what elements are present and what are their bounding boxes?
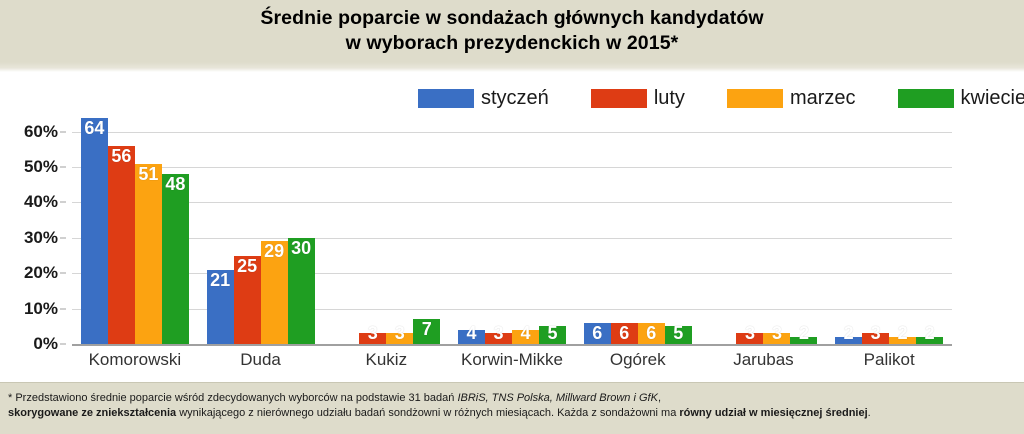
chart-legend: styczeńlutymarzeckwiecień [418,87,1024,110]
y-axis-tick-label: 30% [24,228,58,248]
x-axis-label-Korwin-Mikke: Korwin-Mikke [449,350,575,370]
bar-Palikot-styczeń[interactable]: 2 [835,337,862,344]
y-axis-tick-mark [60,131,66,132]
bar-slot: 29 [261,114,288,344]
bar-slot: 56 [108,114,135,344]
bar-slot: 64 [81,114,108,344]
footnote-bold-corrected: skorygowane ze zniekształcenia [8,407,176,419]
bar-group-Jarubas: 332 [701,114,827,344]
bar-Palikot-luty[interactable]: 3 [862,333,889,344]
bar-Komorowski-marzec[interactable]: 51 [135,164,162,344]
y-axis-tick-label: 20% [24,263,58,283]
legend-swatch-icon [898,89,954,108]
bar-Komorowski-kwiecień[interactable]: 48 [162,174,189,344]
footnote-line-2-end: . [868,407,871,419]
x-axis-label-Ogórek: Ogórek [575,350,701,370]
bar-value-label: 2 [898,324,908,343]
bar-Korwin-Mikke-kwiecień[interactable]: 5 [539,326,566,344]
bar-slot: 5 [539,114,566,344]
bar-group-Palikot: 2322 [826,114,952,344]
bar-Ogórek-styczeń[interactable]: 6 [584,323,611,344]
footnote-text: * Przedstawiono średnie poparcie wśród z… [8,391,1016,421]
bar-Kukiz-kwiecień[interactable]: 7 [413,319,440,344]
bar-Kukiz-luty[interactable]: 3 [359,333,386,344]
y-axis-tick-mark [60,344,66,345]
bar-value-label: 48 [165,175,185,194]
bar-slot: 5 [665,114,692,344]
bar-Kukiz-marzec[interactable]: 3 [386,333,413,344]
bar-slot: 2 [916,114,943,344]
bar-value-label: 4 [467,324,477,343]
bar-Ogórek-kwiecień[interactable]: 5 [665,326,692,344]
bar-Korwin-Mikke-luty[interactable]: 3 [485,333,512,344]
bar-slot: 2 [835,114,862,344]
bar-group-Korwin-Mikke: 4345 [449,114,575,344]
bar-value-label: 25 [237,257,257,276]
footnote-band: * Przedstawiono średnie poparcie wśród z… [0,382,1024,434]
bar-Ogórek-marzec[interactable]: 6 [638,323,665,344]
bar-slot: 3 [359,114,386,344]
y-axis-tick-label: 50% [24,157,58,177]
bar-Ogórek-luty[interactable]: 6 [611,323,638,344]
bar-slot: 6 [611,114,638,344]
bar-value-label: 6 [619,324,629,343]
bar-slot [709,114,736,344]
bar-group-Ogórek: 6665 [575,114,701,344]
bar-slot: 4 [512,114,539,344]
x-axis-label-Komorowski: Komorowski [72,350,198,370]
footnote-pollsters: IBRiS, TNS Polska, Millward Brown i GfK [457,392,658,404]
bar-slot: 48 [162,114,189,344]
bar-value-label: 56 [111,147,131,166]
bar-value-label: 2 [925,324,935,343]
bar-slot: 3 [763,114,790,344]
legend-swatch-icon [727,89,783,108]
y-axis-tick-label: 0% [33,334,58,354]
bar-slot: 30 [288,114,315,344]
bar-slot: 3 [862,114,889,344]
bar-value-label: 3 [368,324,378,343]
footnote-line-2: skorygowane ze zniekształcenia wynikając… [8,406,1016,421]
bar-value-label: 3 [395,324,405,343]
bar-slot: 3 [485,114,512,344]
footnote-line-2-text: wynikającego z nierównego udziału badań … [176,407,679,419]
bar-groups: 6456514821252930337434566653322322 [72,114,952,344]
bar-group-Duda: 21252930 [198,114,324,344]
y-axis-tick-label: 10% [24,299,58,319]
bar-slot: 2 [889,114,916,344]
bar-value-label: 30 [291,239,311,258]
legend-item-styczeń[interactable]: styczeń [418,87,549,110]
bar-slot: 2 [790,114,817,344]
bar-slot [332,114,359,344]
bar-Komorowski-styczeń[interactable]: 64 [81,118,108,344]
bar-value-label: 2 [799,324,809,343]
footnote-line-1-end: , [658,392,661,404]
bar-value-label: 51 [138,165,158,184]
x-axis-label-Kukiz: Kukiz [323,350,449,370]
legend-label: kwiecień [961,87,1024,110]
bar-slot: 6 [584,114,611,344]
bar-slot: 7 [413,114,440,344]
legend-item-luty[interactable]: luty [591,87,685,110]
bar-Komorowski-luty[interactable]: 56 [108,146,135,344]
bar-Korwin-Mikke-styczeń[interactable]: 4 [458,330,485,344]
bar-slot: 3 [386,114,413,344]
bar-value-label: 6 [646,324,656,343]
y-axis-tick-label: 40% [24,192,58,212]
bar-value-label: 7 [422,320,432,339]
footnote-bold-equal-share: równy udział w miesięcznej średniej [679,407,867,419]
legend-swatch-icon [418,89,474,108]
legend-item-marzec[interactable]: marzec [727,87,856,110]
y-axis-tick-mark [60,273,66,274]
legend-label: marzec [790,87,856,110]
y-axis-tick-mark [60,202,66,203]
bar-value-label: 6 [592,324,602,343]
bar-Korwin-Mikke-marzec[interactable]: 4 [512,330,539,344]
legend-label: luty [654,87,685,110]
bar-value-label: 4 [521,324,531,343]
y-axis-tick-mark [60,308,66,309]
bar-Jarubas-kwiecień[interactable]: 2 [790,337,817,344]
bar-value-label: 5 [548,324,558,343]
bar-value-label: 3 [871,324,881,343]
chart-title-line-2: w wyborach prezydenckich w 2015* [0,31,1024,56]
bar-value-label: 2 [844,324,854,343]
bar-slot: 4 [458,114,485,344]
footnote-line-1-text: * Przedstawiono średnie poparcie wśród z… [8,392,457,404]
legend-item-kwiecień[interactable]: kwiecień [898,87,1024,110]
gridline-0% [72,344,952,346]
bar-Jarubas-marzec[interactable]: 3 [763,333,790,344]
bar-Jarubas-luty[interactable]: 3 [736,333,763,344]
bar-Palikot-kwiecień[interactable]: 2 [916,337,943,344]
bar-slot: 21 [207,114,234,344]
y-axis-tick-mark [60,167,66,168]
x-axis-label-Duda: Duda [198,350,324,370]
x-axis-label-Jarubas: Jarubas [701,350,827,370]
bar-slot: 25 [234,114,261,344]
chart-title-line-1: Średnie poparcie w sondażach głównych ka… [0,6,1024,31]
bar-group-Kukiz: 337 [323,114,449,344]
header-band: Średnie poparcie w sondażach głównych ka… [0,0,1024,72]
bar-slot: 51 [135,114,162,344]
footnote-line-1: * Przedstawiono średnie poparcie wśród z… [8,391,1016,406]
x-axis-labels: KomorowskiDudaKukizKorwin-MikkeOgórekJar… [72,350,952,370]
bar-value-label: 3 [772,324,782,343]
chart-title: Średnie poparcie w sondażach głównych ka… [0,6,1024,56]
bar-slot: 6 [638,114,665,344]
bar-Duda-luty[interactable]: 25 [234,256,261,344]
y-axis-tick-label: 60% [24,122,58,142]
y-axis-labels: 0%10%20%30%40%50%60% [0,114,66,344]
bar-group-Komorowski: 64565148 [72,114,198,344]
bar-value-label: 5 [673,324,683,343]
bar-slot: 3 [736,114,763,344]
bar-value-label: 29 [264,242,284,261]
plot-area: 6456514821252930337434566653322322 [72,114,952,344]
x-axis-label-Palikot: Palikot [826,350,952,370]
bar-value-label: 64 [84,119,104,138]
y-axis-tick-mark [60,237,66,238]
bar-Palikot-marzec[interactable]: 2 [889,337,916,344]
bar-value-label: 3 [745,324,755,343]
bar-value-label: 3 [494,324,504,343]
legend-swatch-icon [591,89,647,108]
bar-Duda-kwiecień[interactable]: 30 [288,238,315,344]
legend-label: styczeń [481,87,549,110]
bar-Duda-marzec[interactable]: 29 [261,241,288,344]
bar-value-label: 21 [210,271,230,290]
chart-area: styczeńlutymarzeckwiecień 0%10%20%30%40%… [0,72,1024,382]
bar-Duda-styczeń[interactable]: 21 [207,270,234,344]
